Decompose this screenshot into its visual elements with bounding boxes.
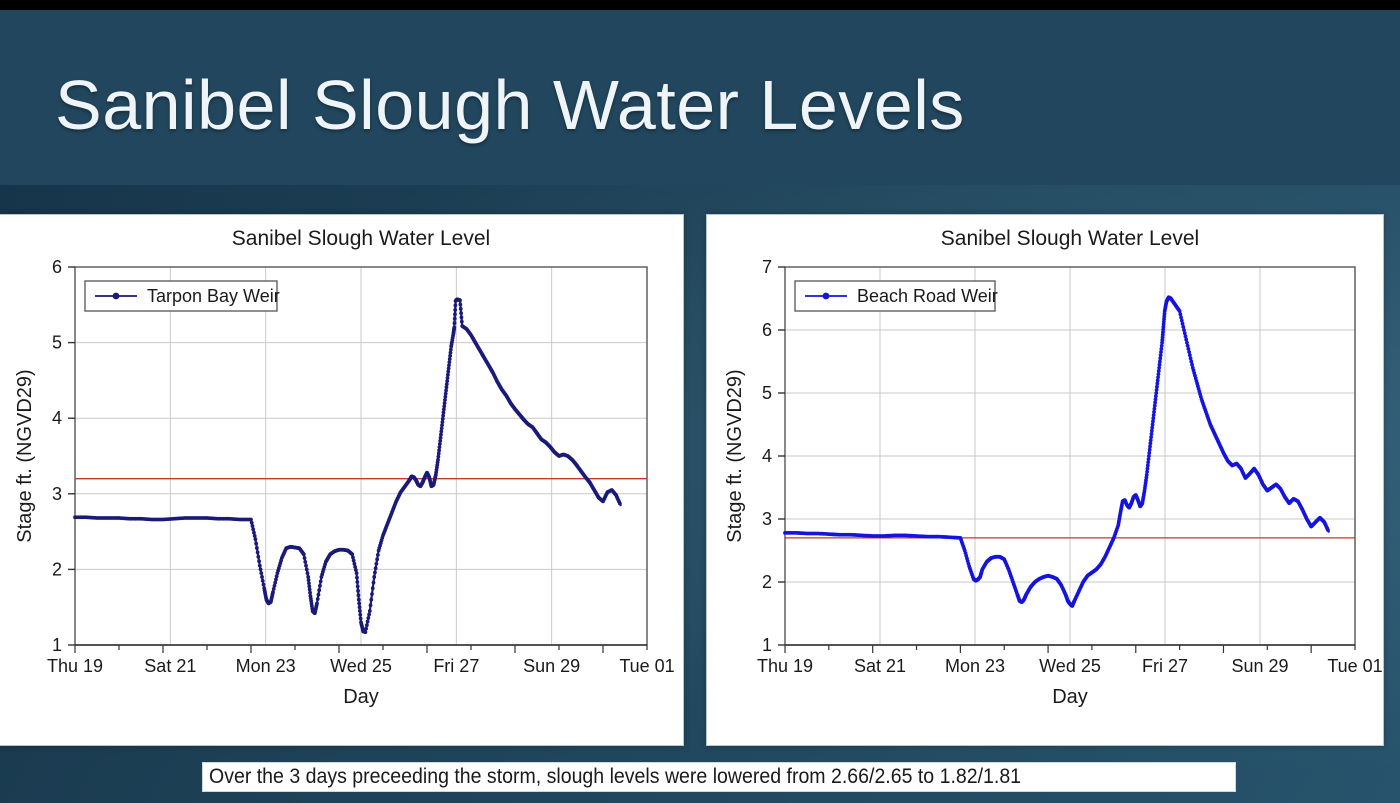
x-tick-label: Wed 25 [1039,656,1101,676]
x-tick-label: Mon 23 [945,656,1005,676]
slide-header: Sanibel Slough Water Levels [0,10,1400,185]
chart-legend: Beach Road Weir [795,281,998,311]
y-tick-label: 3 [52,484,62,504]
page-title: Sanibel Slough Water Levels [55,68,965,142]
x-tick-label: Sun 29 [1231,656,1288,676]
y-tick-label: 1 [52,635,62,655]
chart-tarpon-bay-weir: Sanibel Slough Water Level123456Thu 19Sa… [0,215,683,745]
chart-title: Sanibel Slough Water Level [232,227,490,250]
y-tick-label: 3 [762,509,772,529]
y-axis-label: Stage ft. (NGVD29) [724,369,746,542]
x-tick-label: Sat 21 [144,656,196,676]
caption-box: Over the 3 days preceeding the storm, sl… [202,762,1236,792]
y-tick-label: 2 [52,559,62,579]
x-tick-label: Tue 01 [619,656,674,676]
legend-label: Beach Road Weir [857,286,998,306]
legend-label: Tarpon Bay Weir [147,286,280,306]
chart-panel-tarpon-bay-weir: Sanibel Slough Water Level123456Thu 19Sa… [0,214,684,746]
chart-legend: Tarpon Bay Weir [85,281,280,311]
top-black-bar [0,0,1400,10]
y-tick-label: 6 [762,320,772,340]
y-tick-label: 4 [52,408,62,428]
y-tick-label: 7 [762,257,772,277]
y-tick-label: 6 [52,257,62,277]
slide-root: Sanibel Slough Water Levels Sanibel Slou… [0,0,1400,803]
y-tick-label: 4 [762,446,772,466]
x-tick-label: Thu 19 [47,656,103,676]
caption-text: Over the 3 days preceeding the storm, sl… [209,765,1021,789]
x-axis-label: Day [343,686,379,708]
x-tick-label: Sun 29 [523,656,580,676]
x-tick-label: Tue 01 [1327,656,1382,676]
y-tick-label: 5 [52,333,62,353]
y-tick-label: 1 [762,635,772,655]
chart-beach-road-weir: Sanibel Slough Water Level1234567Thu 19S… [707,215,1383,745]
chart-panel-beach-road-weir: Sanibel Slough Water Level1234567Thu 19S… [706,214,1384,746]
x-tick-label: Mon 23 [236,656,296,676]
x-tick-label: Wed 25 [330,656,392,676]
data-series-line [785,297,1329,606]
x-tick-label: Sat 21 [854,656,906,676]
x-tick-label: Thu 19 [757,656,813,676]
x-axis-label: Day [1052,686,1088,708]
x-tick-label: Fri 27 [1142,656,1188,676]
y-axis-label: Stage ft. (NGVD29) [14,369,36,542]
x-tick-label: Fri 27 [433,656,479,676]
data-series-markers [73,298,622,634]
y-tick-label: 5 [762,383,772,403]
chart-title: Sanibel Slough Water Level [941,227,1199,250]
data-series-line [75,300,621,633]
y-tick-label: 2 [762,572,772,592]
data-series-markers [783,295,1330,608]
